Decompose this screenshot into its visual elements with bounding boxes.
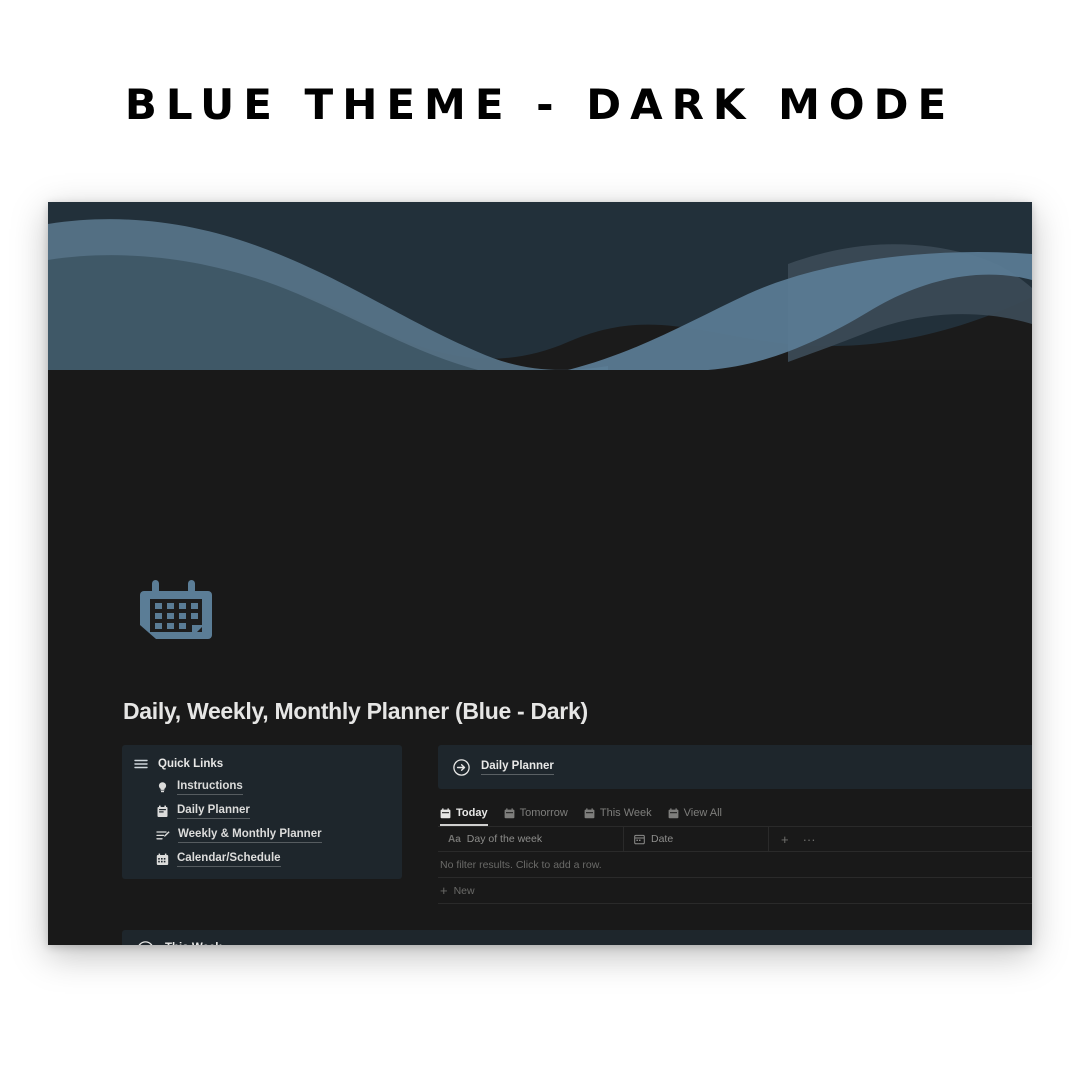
menu-icon [134, 757, 148, 771]
page-body: Quick Links Instructions [122, 745, 1032, 904]
table-new-row-button[interactable]: + New [438, 878, 1032, 904]
notepad-icon [156, 805, 169, 818]
daily-planner-section: Daily Planner Today [438, 745, 1032, 904]
calendar-icon [136, 575, 216, 655]
quick-link-instructions[interactable]: Instructions [156, 775, 388, 799]
quick-links-header: Quick Links [134, 757, 388, 771]
tab-tomorrow[interactable]: Tomorrow [504, 807, 568, 826]
daily-planner-link-label: Daily Planner [481, 759, 554, 775]
quick-link-weekly-monthly-planner[interactable]: Weekly & Monthly Planner [156, 823, 388, 847]
arrow-circle-right-icon [137, 941, 154, 946]
table-header-row: Aa Day of the week Date [438, 827, 1032, 852]
calendar-tab-icon [584, 808, 595, 819]
tab-label: Tomorrow [520, 807, 568, 819]
calendar-tab-icon [668, 808, 679, 819]
text-type-icon: Aa [448, 834, 461, 845]
daily-planner-table: Aa Day of the week Date [438, 827, 1032, 904]
quick-links-list: Instructions Daily Planner [156, 775, 388, 871]
quick-link-daily-planner[interactable]: Daily Planner [156, 799, 388, 823]
tab-label: Today [456, 807, 488, 819]
date-icon [634, 834, 645, 845]
daily-planner-view-tabs: Today Tomorrow [438, 803, 1032, 827]
quick-link-label: Calendar/Schedule [177, 851, 281, 867]
tab-view-all[interactable]: View All [668, 807, 722, 826]
calendar-tab-icon [504, 808, 515, 819]
lightbulb-icon [156, 781, 169, 794]
tab-this-week[interactable]: This Week [584, 807, 652, 826]
quick-link-calendar-schedule[interactable]: Calendar/Schedule [156, 847, 388, 871]
app-window-card: Daily, Weekly, Monthly Planner (Blue - D… [48, 202, 1032, 945]
quick-link-label: Daily Planner [177, 803, 250, 819]
tab-label: View All [684, 807, 722, 819]
table-empty-message[interactable]: No filter results. Click to add a row. [438, 852, 1032, 878]
calendar-grid-icon [156, 853, 169, 866]
arrow-circle-right-icon [453, 759, 470, 776]
quick-links-title: Quick Links [158, 758, 223, 770]
more-options-button[interactable]: ··· [803, 832, 816, 847]
this-week-link-label: This Week [165, 941, 222, 945]
poster-heading: BLUE THEME - DARK MODE [0, 80, 1080, 129]
column-label: Date [651, 833, 673, 845]
column-label: Day of the week [467, 833, 542, 845]
plus-icon: + [440, 884, 448, 897]
quick-links-callout: Quick Links Instructions [122, 745, 402, 879]
new-row-label: New [454, 885, 475, 897]
calendar-tab-icon [440, 808, 451, 819]
page-title: Daily, Weekly, Monthly Planner (Blue - D… [123, 698, 588, 725]
list-pencil-icon [156, 829, 170, 842]
add-column-button[interactable]: + [781, 832, 789, 847]
cover-banner [48, 202, 1032, 370]
wave-graphic [48, 202, 1032, 370]
table-header-actions: + ··· [769, 827, 828, 852]
daily-planner-link-callout[interactable]: Daily Planner [438, 745, 1032, 789]
tab-today[interactable]: Today [440, 807, 488, 826]
quick-link-label: Instructions [177, 779, 243, 795]
quick-link-label: Weekly & Monthly Planner [178, 827, 322, 843]
this-week-link-callout[interactable]: This Week [122, 930, 1032, 945]
column-date[interactable]: Date [624, 827, 769, 852]
tab-label: This Week [600, 807, 652, 819]
column-day-of-the-week[interactable]: Aa Day of the week [438, 827, 624, 852]
